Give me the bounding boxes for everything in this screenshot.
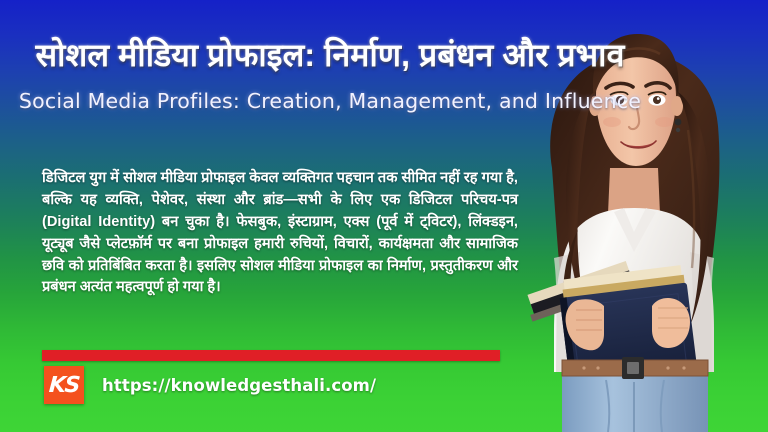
page-subtitle-english: Social Media Profiles: Creation, Managem… (0, 89, 660, 113)
website-url[interactable]: https://knowledgesthali.com/ (102, 376, 376, 395)
logo-text: KS (48, 373, 80, 398)
social-media-banner: सोशल मीडिया प्रोफाइल: निर्माण, प्रबंधन औ… (0, 0, 768, 432)
footer-bar: KS https://knowledgesthali.com/ (44, 366, 376, 404)
ks-logo-icon: KS (44, 366, 84, 404)
body-paragraph: डिजिटल युग में सोशल मीडिया प्रोफाइल केवल… (42, 168, 518, 299)
page-title-hindi: सोशल मीडिया प्रोफाइल: निर्माण, प्रबंधन औ… (0, 36, 660, 75)
divider-rule (42, 350, 500, 361)
title-block: सोशल मीडिया प्रोफाइल: निर्माण, प्रबंधन औ… (0, 36, 660, 113)
